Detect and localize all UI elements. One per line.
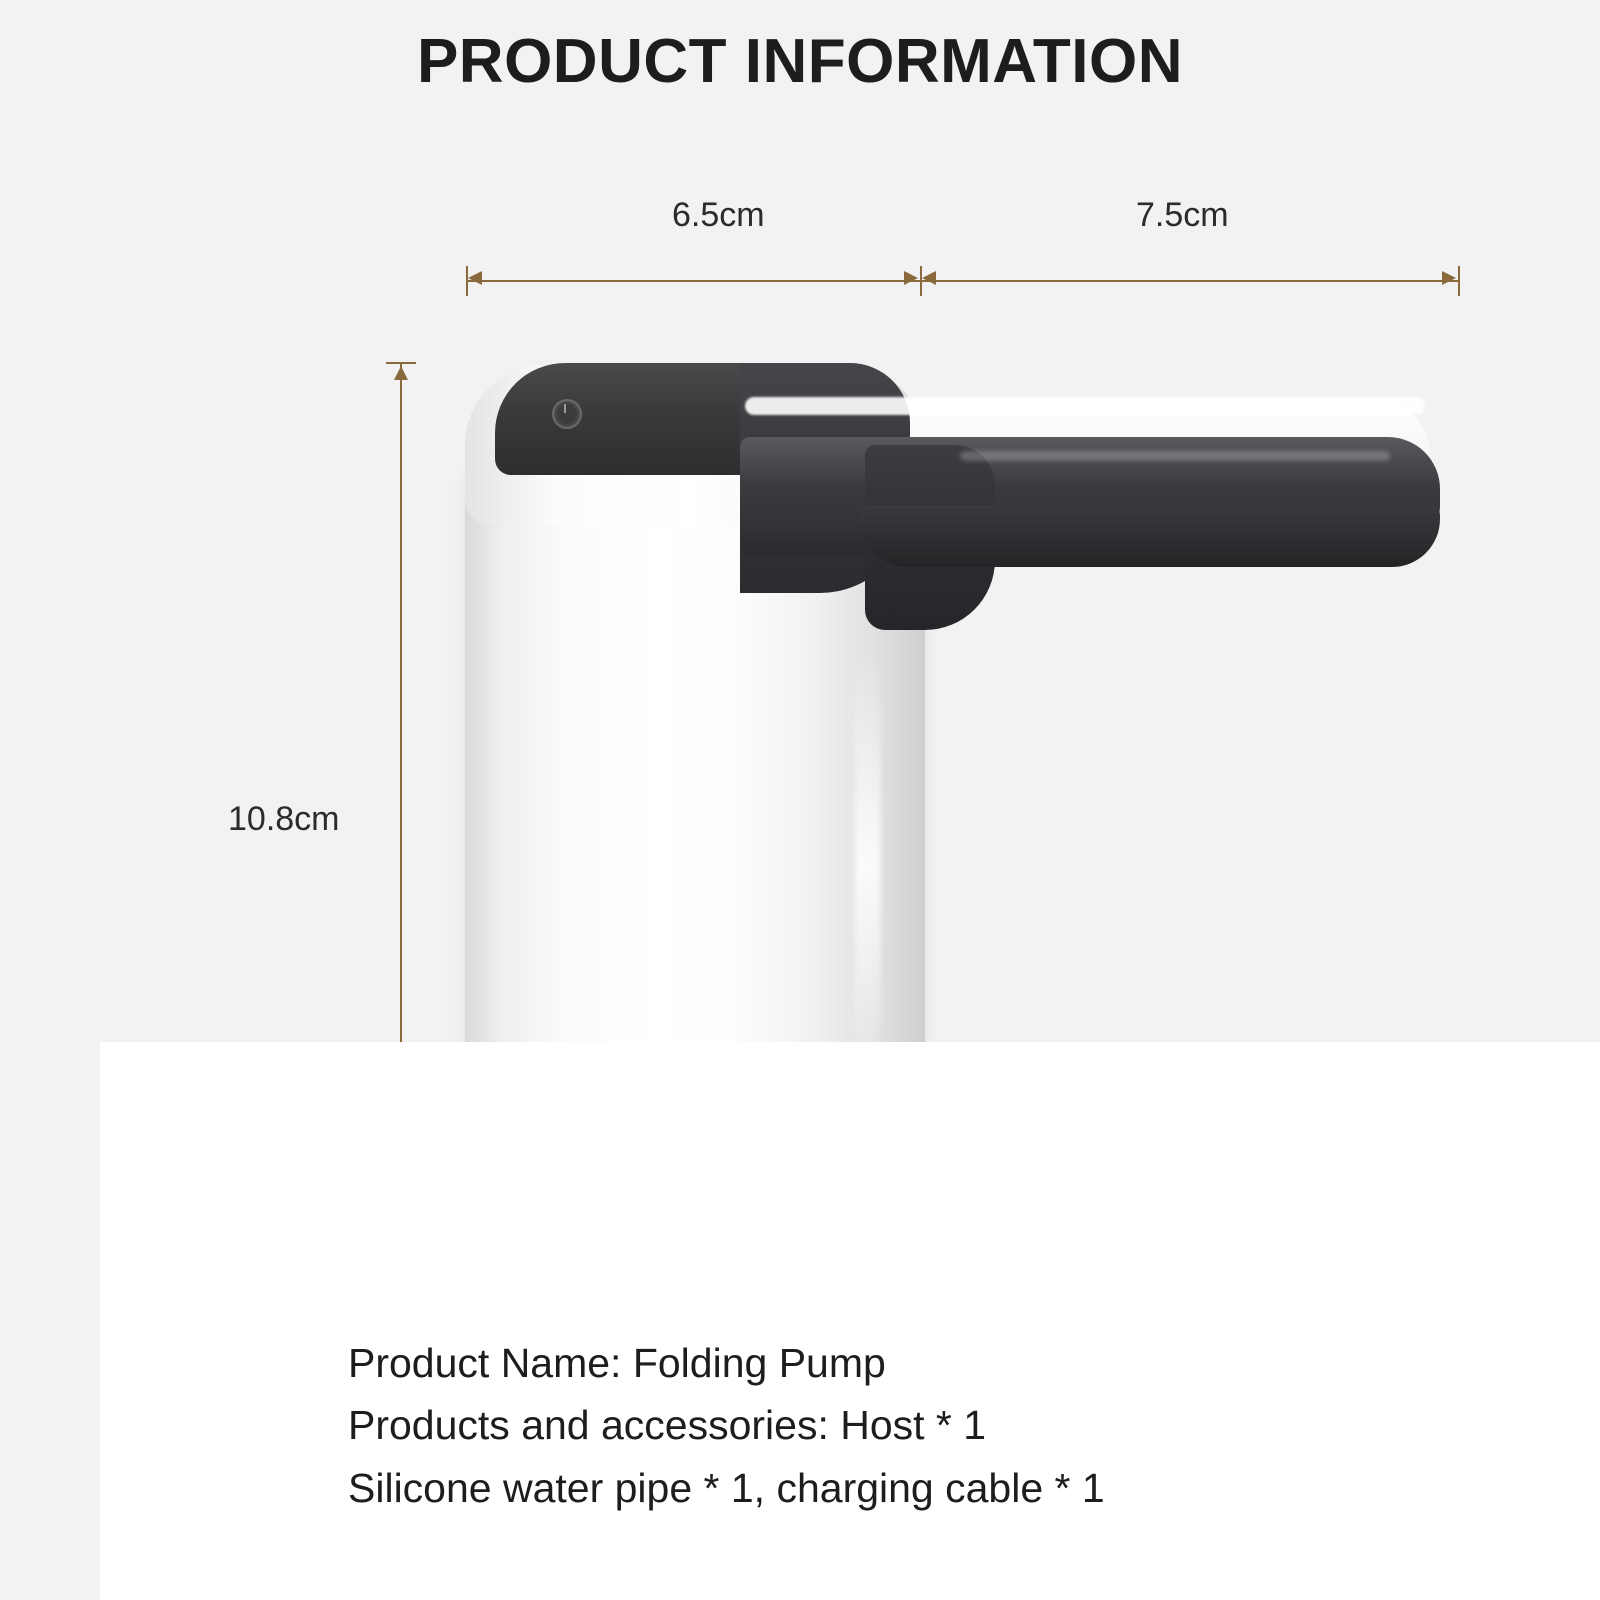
folding-arm-highlight (960, 451, 1390, 461)
dimension-label-width-right: 7.5cm (1136, 196, 1229, 235)
dimension-label-width-left: 6.5cm (672, 196, 765, 235)
folding-arm-edge-highlight (745, 397, 1425, 415)
arrow-up-icon (394, 366, 408, 380)
info-line-extras: Silicone water pipe * 1, charging cable … (348, 1457, 1598, 1519)
product-info-text: Product Name: Folding Pump Products and … (348, 1332, 1598, 1519)
page-title: PRODUCT INFORMATION (0, 26, 1600, 97)
info-line-product-name: Product Name: Folding Pump (348, 1332, 1598, 1394)
product-information-page: PRODUCT INFORMATION 6.5cm 7.5cm 10.8cm P… (0, 0, 1600, 1600)
product-info-card: Product Name: Folding Pump Products and … (100, 1042, 1600, 1600)
arrow-right-icon (1442, 271, 1456, 285)
folding-arm-lower (860, 505, 1440, 567)
arrow-right-icon (904, 271, 918, 285)
pump-body-highlight (855, 655, 881, 1075)
arrow-left-icon (922, 271, 936, 285)
top-dimension-labels: 6.5cm 7.5cm (0, 196, 1600, 240)
arrow-left-icon (468, 271, 482, 285)
dimension-label-height: 10.8cm (228, 800, 340, 839)
dimension-tick-right (1458, 266, 1460, 296)
dimension-tick-top (386, 362, 416, 364)
power-button-icon (552, 399, 582, 429)
info-line-accessories: Products and accessories: Host * 1 (348, 1394, 1598, 1456)
top-dimension-line (466, 280, 1460, 282)
